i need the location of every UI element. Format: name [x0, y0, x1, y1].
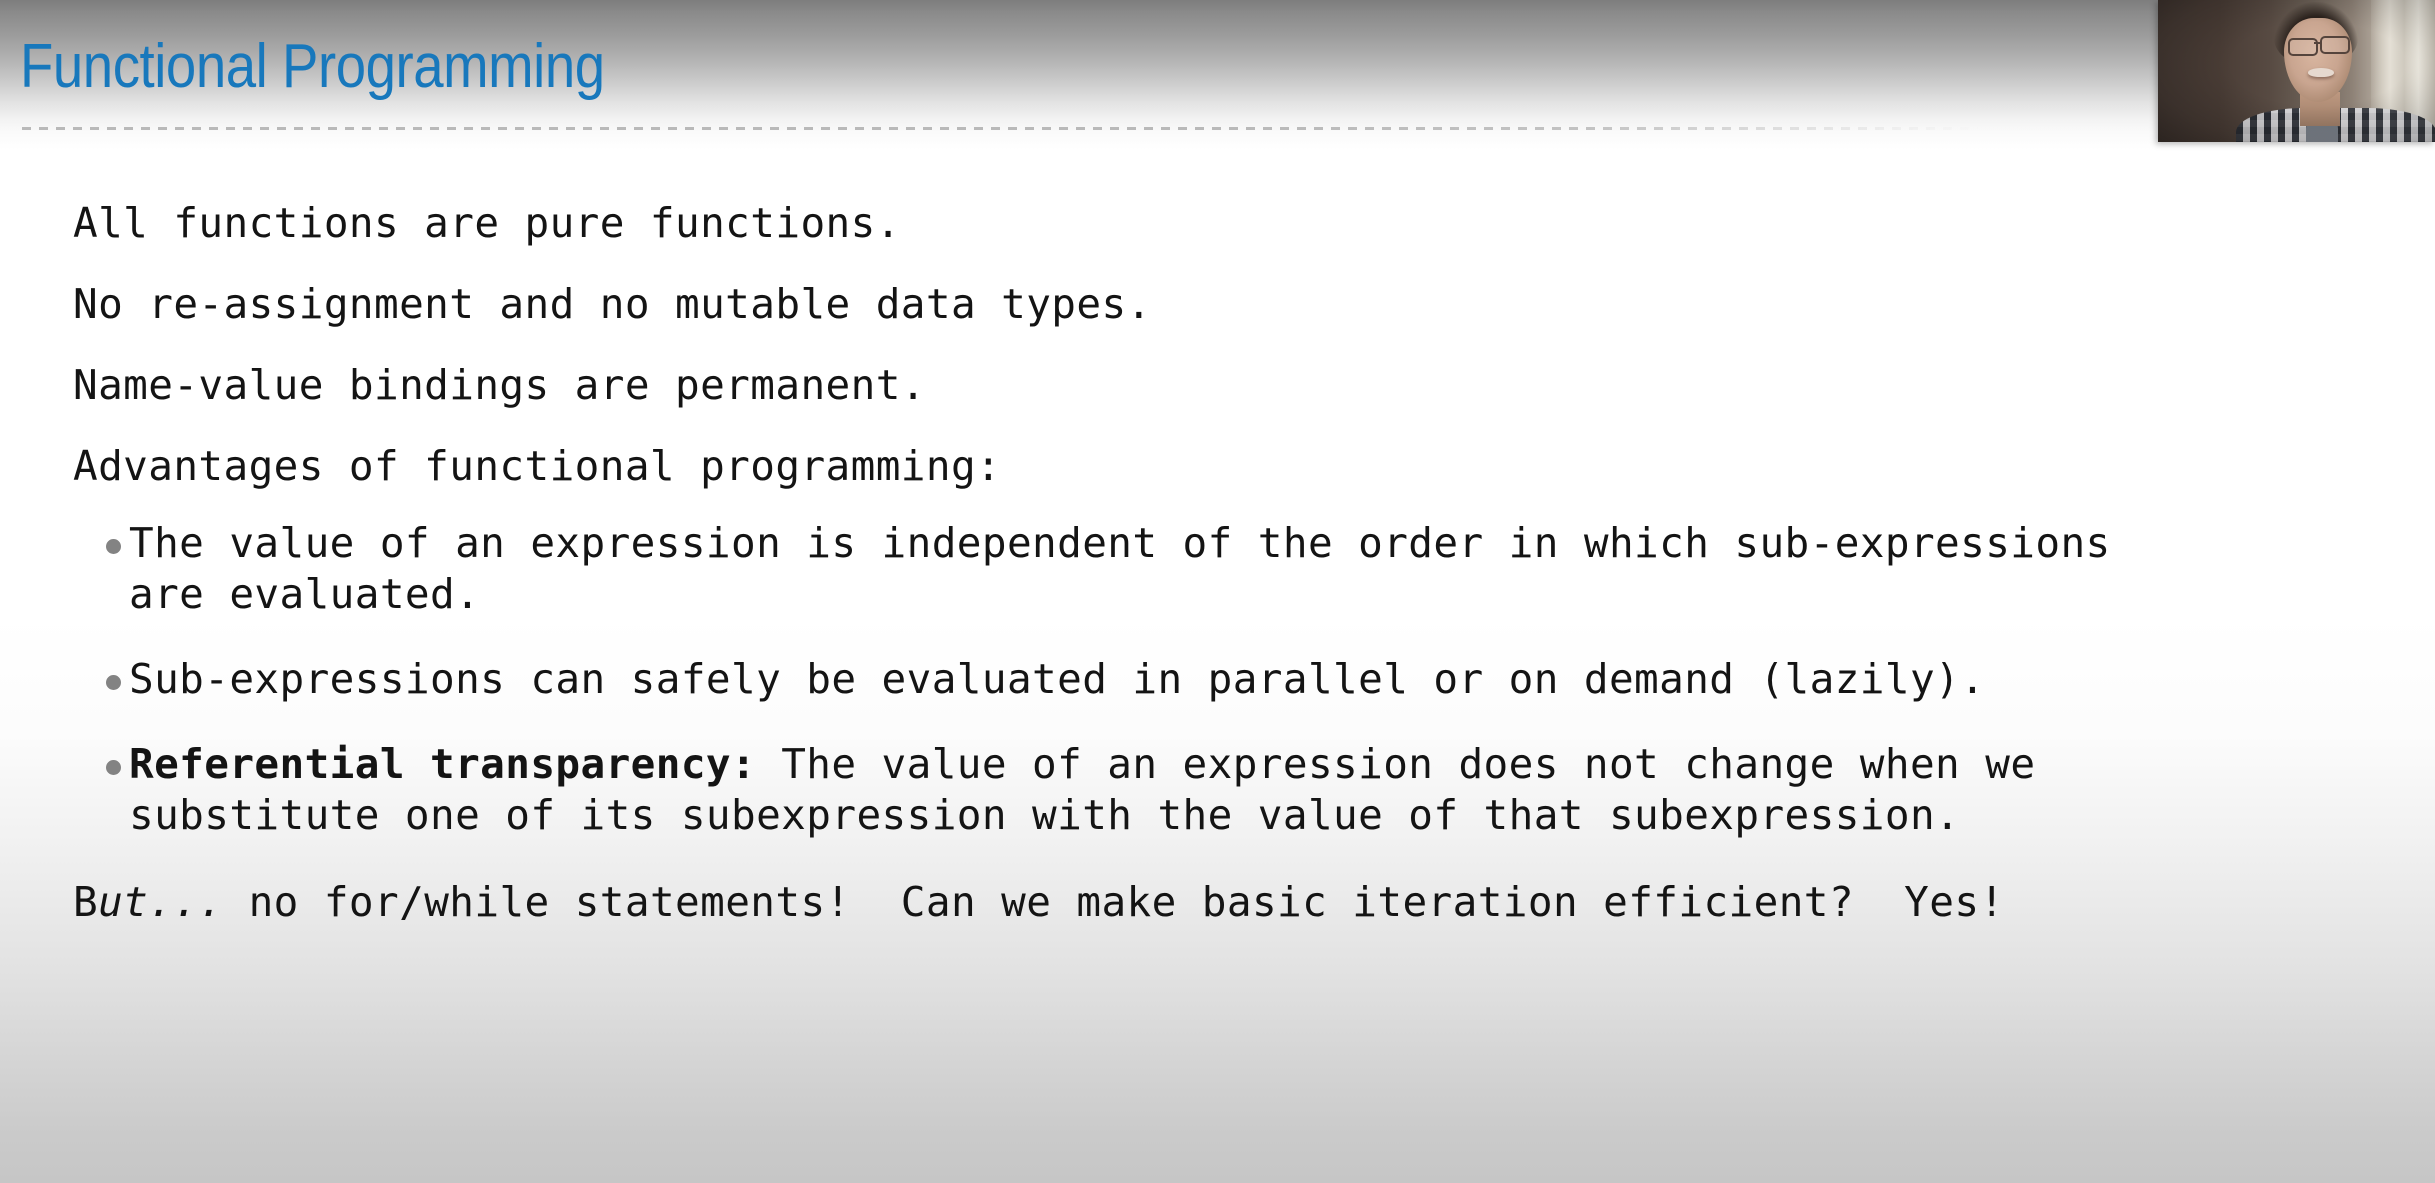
body-paragraph-2: No re-assignment and no mutable data typ… — [73, 279, 2353, 330]
bullet-3-line-1-rest: The value of an expression does not chan… — [756, 740, 2035, 788]
page-title: Functional Programming — [20, 36, 605, 98]
body-paragraph-3: Name-value bindings are permanent. — [73, 360, 2353, 411]
slide-header: Functional Programming — [0, 0, 2435, 150]
bullet-3-line-2: substitute one of its subexpression with… — [129, 790, 2353, 841]
closing-rest: no for/while statements! Can we make bas… — [224, 878, 2005, 926]
bullet-3-lead-term: Referential transparency: — [129, 740, 756, 788]
bullet-dot-icon — [106, 539, 121, 554]
bullet-1-line-1: The value of an expression is independen… — [129, 518, 2353, 569]
slide-body: All functions are pure functions. No re-… — [73, 198, 2353, 958]
closing-prefix: B — [73, 878, 98, 926]
bullet-1-line-2: are evaluated. — [129, 569, 2353, 620]
presenter-webcam-feed[interactable] — [2158, 0, 2435, 142]
bullet-dot-icon — [106, 760, 121, 775]
list-item: The value of an expression is independen… — [73, 518, 2353, 620]
closing-line: But... no for/while statements! Can we m… — [73, 877, 2353, 928]
presentation-slide: Functional Programming All functions are… — [0, 0, 2435, 1183]
title-divider — [22, 127, 1982, 130]
list-item: Sub-expressions can safely be evaluated … — [73, 654, 2353, 705]
webcam-vignette — [2158, 0, 2435, 142]
advantages-bullet-list: The value of an expression is independen… — [73, 518, 2353, 841]
bullet-2-line-1: Sub-expressions can safely be evaluated … — [129, 654, 2353, 705]
list-item: Referential transparency: The value of a… — [73, 739, 2353, 841]
body-paragraph-4: Advantages of functional programming: — [73, 441, 2353, 492]
body-paragraph-1: All functions are pure functions. — [73, 198, 2353, 249]
closing-emphasis: ut... — [98, 878, 223, 926]
bullet-dot-icon — [106, 675, 121, 690]
bullet-3-line-1: Referential transparency: The value of a… — [129, 739, 2353, 790]
